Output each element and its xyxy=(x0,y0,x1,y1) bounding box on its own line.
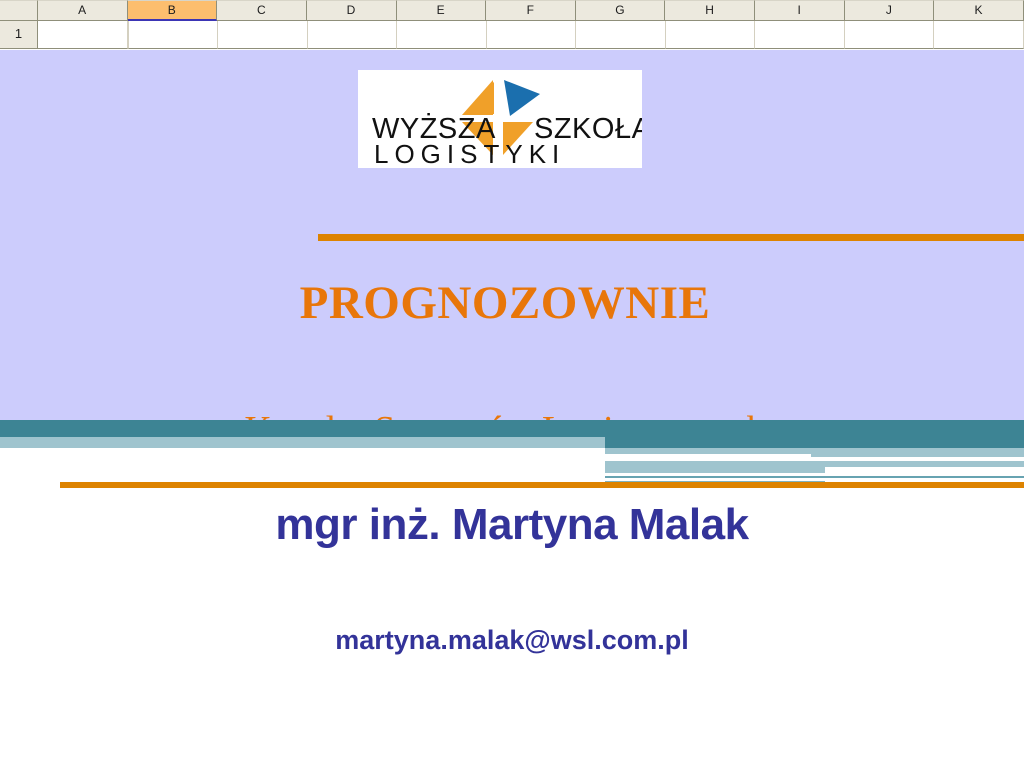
column-header-j[interactable]: J xyxy=(845,0,935,21)
column-header-g[interactable]: G xyxy=(576,0,666,21)
wsl-logo-svg: WYŻSZA SZKOŁA LOGISTYKI xyxy=(358,70,642,168)
band-gap-2 xyxy=(825,467,1024,473)
cell-c1[interactable] xyxy=(218,21,308,49)
cell-i1[interactable] xyxy=(755,21,845,49)
cell-e1[interactable] xyxy=(397,21,487,49)
author-email[interactable]: martyna.malak@wsl.com.pl xyxy=(0,625,1024,656)
band-hairline-1 xyxy=(605,476,1024,478)
author-name: mgr inż. Martyna Malak xyxy=(0,500,1024,550)
cell-d1[interactable] xyxy=(308,21,398,49)
column-header-f[interactable]: F xyxy=(486,0,576,21)
cell-h1[interactable] xyxy=(666,21,756,49)
cell-j1[interactable] xyxy=(845,21,935,49)
band-teal-right xyxy=(605,437,1024,448)
column-header-e[interactable]: E xyxy=(397,0,487,21)
column-header-a[interactable]: A xyxy=(38,0,128,21)
cell-g1[interactable] xyxy=(576,21,666,49)
row-header-1[interactable]: 1 xyxy=(0,21,38,49)
cell-k1[interactable] xyxy=(934,21,1024,49)
column-header-i[interactable]: I xyxy=(755,0,845,21)
cell-a1[interactable] xyxy=(38,21,128,49)
band-teal-top xyxy=(0,420,1024,437)
band-light-left xyxy=(0,437,605,448)
page-title: PROGNOZOWNIE xyxy=(0,276,1010,330)
column-header-d[interactable]: D xyxy=(307,0,397,21)
select-all-corner[interactable] xyxy=(0,0,38,21)
divider-rule-top xyxy=(318,234,1024,241)
column-header-c[interactable]: C xyxy=(217,0,307,21)
column-header-h[interactable]: H xyxy=(665,0,755,21)
presentation-slide: A B C D E F G H I J K 1 xyxy=(0,0,1024,768)
slide-upper-panel: WYŻSZA SZKOŁA LOGISTYKI PROGNOZOWNIE Kat… xyxy=(0,50,1024,420)
column-header-row: A B C D E F G H I J K xyxy=(0,0,1024,21)
decorative-band-zone xyxy=(0,420,1024,488)
band-gap-1 xyxy=(605,454,811,458)
spreadsheet-strip: A B C D E F G H I J K 1 xyxy=(0,0,1024,50)
cell-b1[interactable] xyxy=(128,21,219,49)
logo-text-logistyki: LOGISTYKI xyxy=(374,139,565,168)
table-row: 1 xyxy=(0,21,1024,49)
column-header-b[interactable]: B xyxy=(128,0,218,21)
wsl-logo: WYŻSZA SZKOŁA LOGISTYKI xyxy=(358,70,642,168)
cell-f1[interactable] xyxy=(487,21,577,49)
column-header-k[interactable]: K xyxy=(934,0,1024,21)
